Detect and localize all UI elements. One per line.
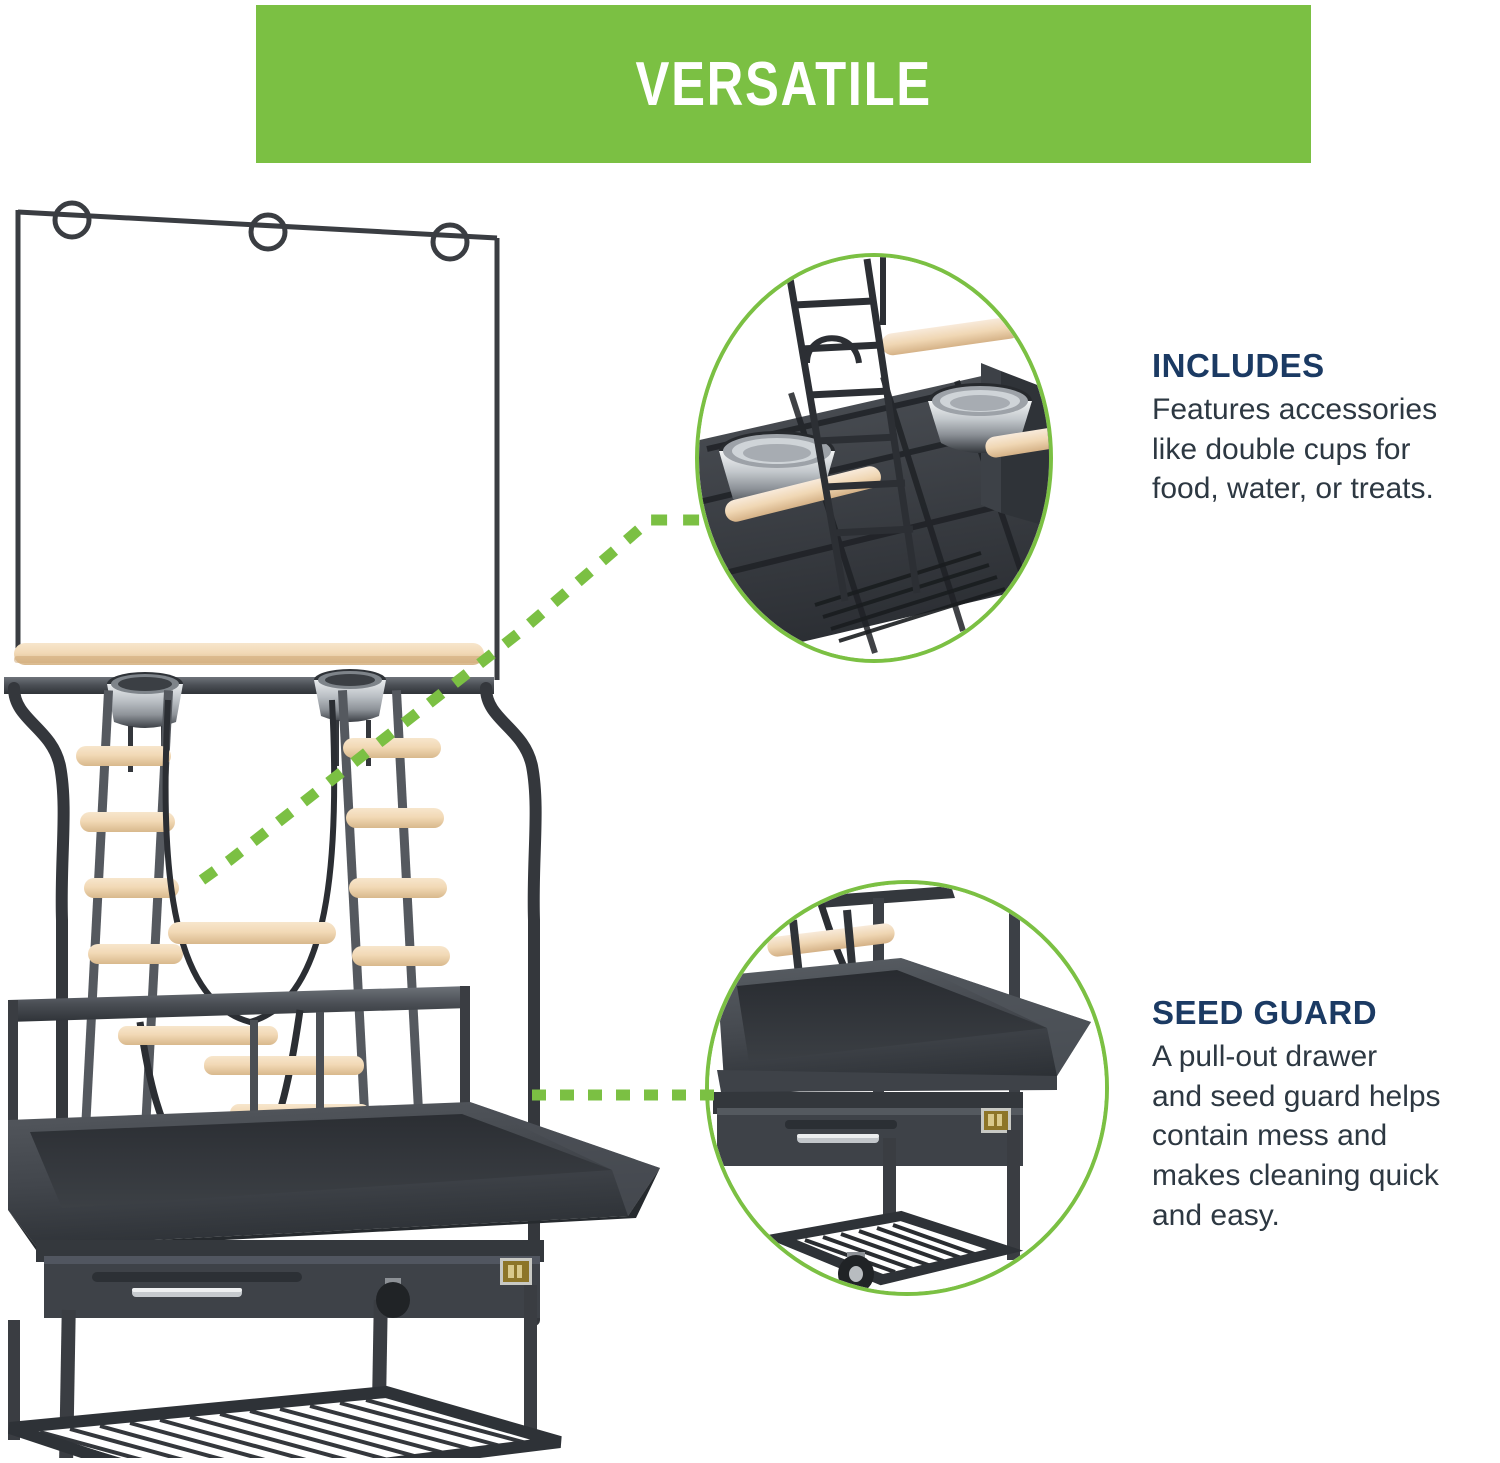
feature-line: food, water, or treats. — [1152, 472, 1434, 505]
feature-block-seed-guard: SEED GUARD A pull-out drawer and seed gu… — [1152, 995, 1500, 1235]
callout-seed-guard-image — [705, 880, 1109, 1296]
feature-block-includes: INCLUDES Features accessories like doubl… — [1152, 348, 1500, 509]
callout-cups-image — [695, 253, 1053, 663]
callout-seed-guard — [705, 880, 1109, 1296]
feature-line: and easy. — [1152, 1199, 1280, 1232]
top-wooden-perch — [14, 643, 484, 665]
drawer-handle — [797, 1134, 879, 1143]
feature-line: like double cups for — [1152, 433, 1411, 466]
feature-body-includes: Features accessories like double cups fo… — [1152, 390, 1500, 509]
wire-bottom-shelf — [10, 1392, 560, 1458]
brand-plaque — [500, 1258, 532, 1285]
playtop-rail — [4, 677, 494, 694]
feature-line: makes cleaning quick — [1152, 1159, 1439, 1192]
feature-line: and seed guard helps — [1152, 1080, 1441, 1113]
feature-title-includes: INCLUDES — [1152, 348, 1500, 384]
callout-cups — [695, 253, 1053, 663]
seed-guard-tray — [8, 1102, 660, 1250]
hanging-toy-bar — [18, 210, 497, 680]
ladder-right — [338, 690, 450, 1160]
swing-perch — [166, 700, 336, 1022]
feature-line: A pull-out drawer — [1152, 1040, 1377, 1073]
feature-title-seed-guard: SEED GUARD — [1152, 995, 1500, 1031]
banner-title: VERSATILE — [635, 49, 931, 120]
feature-line: Features accessories — [1152, 393, 1437, 426]
product-illustration — [0, 160, 700, 1458]
feature-body-seed-guard: A pull-out drawer and seed guard helps c… — [1152, 1037, 1500, 1235]
brand-plaque — [981, 1108, 1011, 1133]
feature-line: contain mess and — [1152, 1119, 1387, 1152]
pull-out-drawer — [36, 1240, 544, 1318]
drawer — [713, 1092, 1023, 1166]
versatile-banner: VERSATILE — [256, 5, 1311, 163]
drawer-handle — [132, 1288, 242, 1297]
